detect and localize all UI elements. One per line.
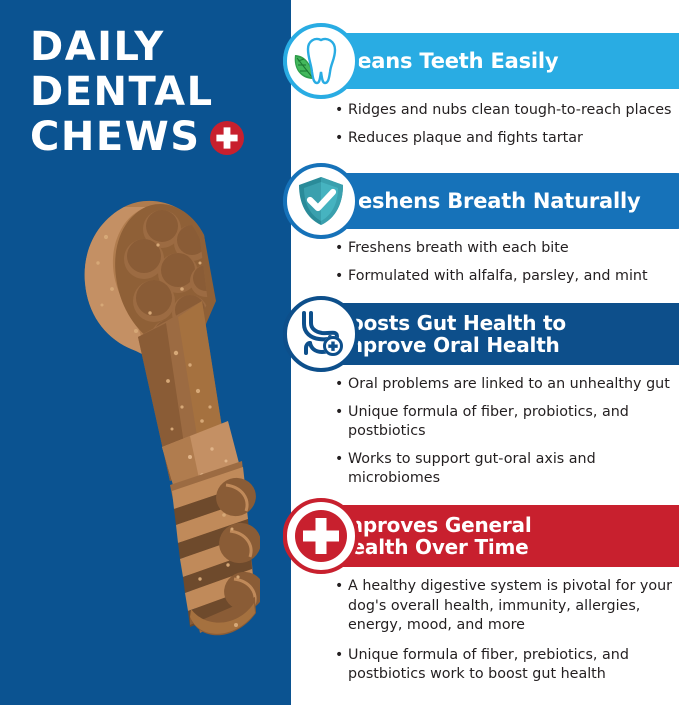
feature-banner-cleans-teeth: Cleans Teeth Easily	[283, 33, 679, 89]
feature-banner-improves-general-health: Improves General Health Over Time	[283, 505, 679, 567]
feature-bullets-cleans-teeth: Ridges and nubs clean tough-to-reach pla…	[335, 101, 679, 148]
feature-banner-freshens-breath: Freshens Breath Naturally	[283, 173, 679, 229]
feature-title-cleans-teeth: Cleans Teeth Easily	[335, 50, 558, 73]
dog-dental-chew-illustration	[50, 185, 260, 685]
shield-check-icon	[283, 163, 359, 239]
feature-title-boosts-gut-health: Boosts Gut Health to Improve Oral Health	[335, 312, 566, 356]
bullet-item: Formulated with alfalfa, parsley, and mi…	[335, 267, 679, 287]
features-column: Cleans Teeth Easily Ridges and nubs clea…	[245, 0, 679, 705]
red-cross-badge-icon	[209, 120, 245, 156]
feature-cleans-teeth: Cleans Teeth Easily Ridges and nubs clea…	[245, 33, 679, 156]
dental-chews-infographic: DAILY DENTAL CHEWS	[0, 0, 679, 705]
feature-improves-general-health: Improves General Health Over Time A heal…	[245, 505, 679, 695]
title-line-3-row: CHEWS	[30, 115, 280, 160]
feature-title-freshens-breath: Freshens Breath Naturally	[335, 190, 640, 213]
bullet-item: Works to support gut-oral axis and micro…	[335, 450, 679, 489]
bullet-item: A healthy digestive system is pivotal fo…	[335, 577, 679, 636]
feature-freshens-breath: Freshens Breath Naturally Freshens breat…	[245, 173, 679, 294]
bullet-item: Oral problems are linked to an unhealthy…	[335, 375, 679, 395]
bullet-item: Reduces plaque and fights tartar	[335, 129, 679, 149]
feature-bullets-freshens-breath: Freshens breath with each bite Formulate…	[335, 239, 679, 286]
bullet-item: Ridges and nubs clean tough-to-reach pla…	[335, 101, 679, 121]
feature-boosts-gut-health: Boosts Gut Health to Improve Oral Health…	[245, 303, 679, 497]
bullet-item: Unique formula of fiber, prebiotics, and…	[335, 646, 679, 685]
tooth-mint-leaf-icon	[283, 23, 359, 99]
title-line-3: CHEWS	[30, 115, 201, 160]
feature-bullets-improves-general-health: A healthy digestive system is pivotal fo…	[335, 577, 679, 685]
feature-title-improves-general-health: Improves General Health Over Time	[335, 514, 531, 558]
bullet-item: Unique formula of fiber, probiotics, and…	[335, 403, 679, 442]
red-cross-circle-icon	[283, 498, 359, 574]
feature-bullets-boosts-gut-health: Oral problems are linked to an unhealthy…	[335, 375, 679, 489]
stomach-plus-icon	[283, 296, 359, 372]
feature-banner-boosts-gut-health: Boosts Gut Health to Improve Oral Health	[283, 303, 679, 365]
bullet-item: Freshens breath with each bite	[335, 239, 679, 259]
page-title: DAILY DENTAL CHEWS	[30, 25, 280, 160]
title-line-1: DAILY	[30, 25, 280, 70]
title-line-2: DENTAL	[30, 70, 280, 115]
